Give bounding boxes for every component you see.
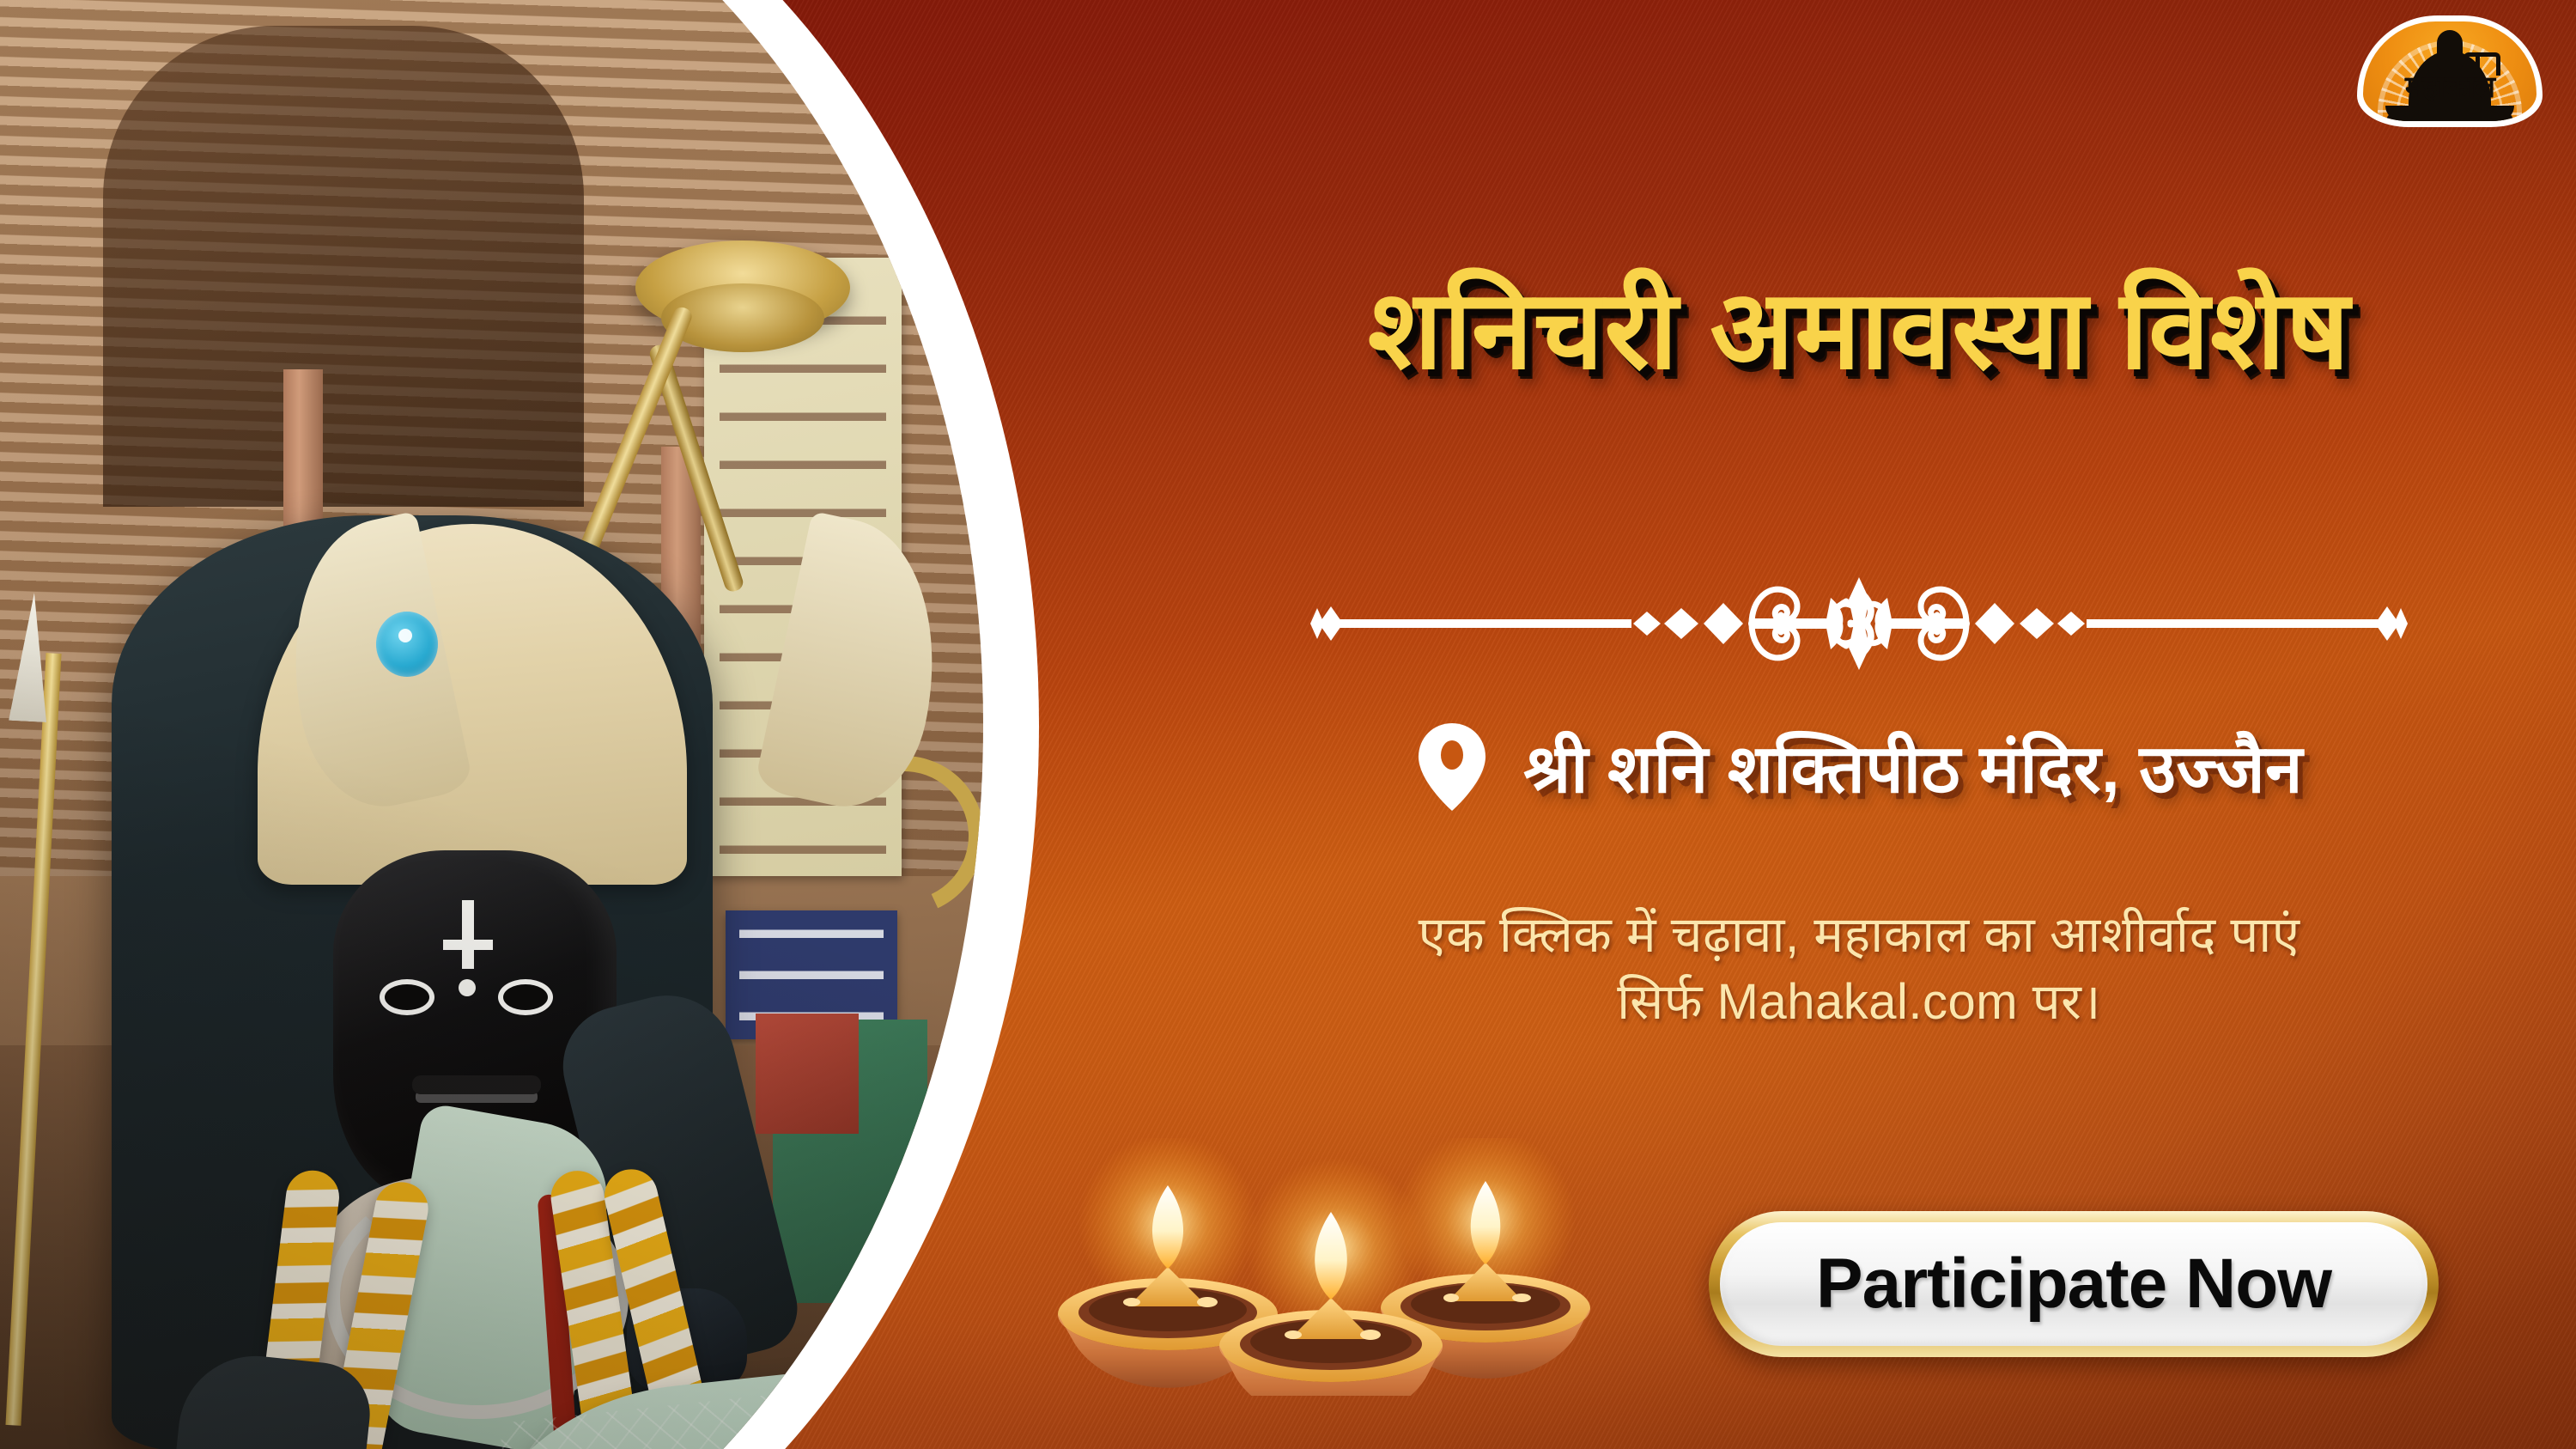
photo-circular-mask bbox=[0, 0, 983, 1449]
tagline-line-1: एक क्लिक में चढ़ावा, महाकाल का आशीर्वाद … bbox=[1419, 907, 2300, 963]
participate-now-button[interactable]: Participate Now bbox=[1709, 1211, 2439, 1357]
location-pin-icon bbox=[1415, 720, 1489, 819]
promotional-banner: महाकाल .com शनिचरी अमावस्या विशेष bbox=[0, 0, 2576, 1449]
logo-brand-text: महाकाल bbox=[2363, 72, 2537, 102]
ornamental-divider bbox=[1305, 574, 2413, 673]
cta-inner-face: Participate Now bbox=[1720, 1222, 2427, 1346]
venue-row: श्री शनि शक्तिपीठ मंदिर, उज्जैन bbox=[1142, 720, 2576, 819]
page-title: शनिचरी अमावस्या विशेष bbox=[1142, 273, 2576, 388]
photo-shading bbox=[0, 0, 983, 1449]
temple-scene bbox=[0, 0, 983, 1449]
cta-label: Participate Now bbox=[1816, 1244, 2331, 1324]
mahakal-logo[interactable]: महाकाल .com bbox=[2357, 15, 2543, 127]
venue-name: श्री शनि शक्तिपीठ मंदिर, उज्जैन bbox=[1523, 733, 2303, 807]
content-column: महाकाल .com शनिचरी अमावस्या विशेष bbox=[1142, 0, 2576, 1449]
temple-photo bbox=[0, 0, 983, 1449]
tagline-line-2: सिर्फ Mahakal.com पर। bbox=[1142, 969, 2576, 1036]
temple-photo-panel bbox=[0, 0, 1013, 1449]
diya-lamps bbox=[1039, 1138, 1623, 1396]
logo-base-bar bbox=[2385, 106, 2514, 121]
tagline: एक क्लिक में चढ़ावा, महाकाल का आशीर्वाद … bbox=[1142, 902, 2576, 1037]
